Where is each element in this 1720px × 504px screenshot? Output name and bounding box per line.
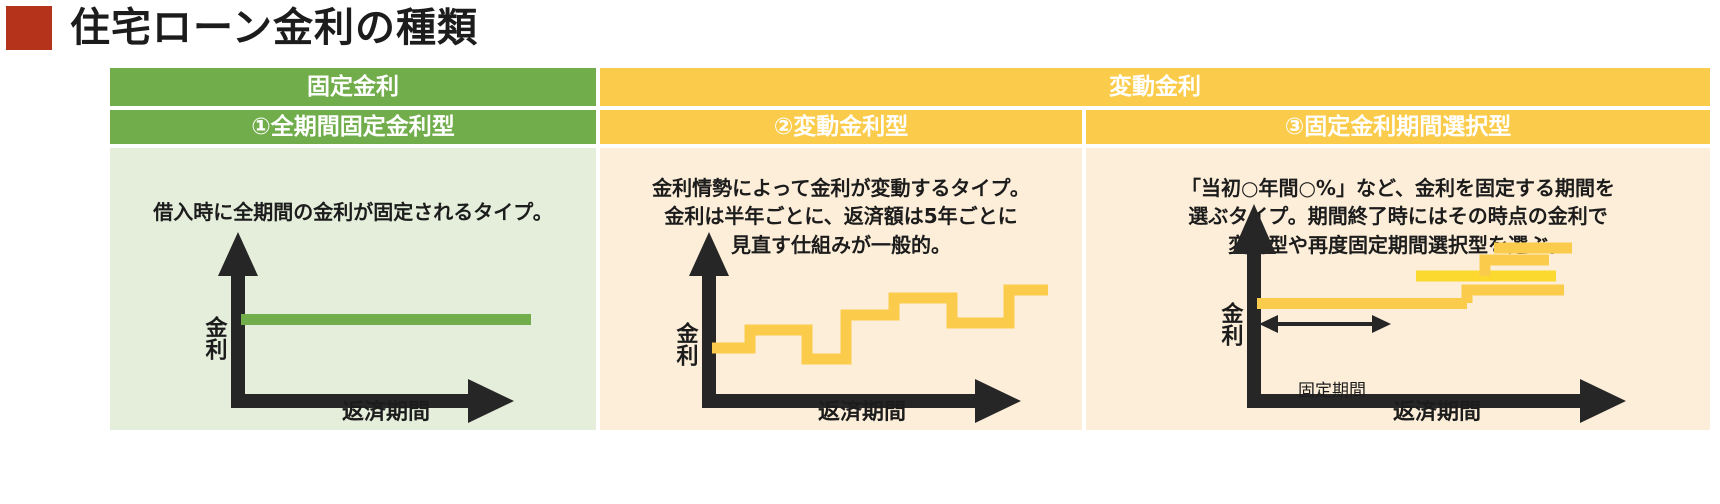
y-axis-label-2: 金利 (673, 321, 700, 367)
panel-description-1: 借入時に全期間の金利が固定されるタイプ。 (110, 198, 596, 226)
series-initial-fixed-segment (1257, 298, 1467, 309)
panel-fixed-period-select: 「当初○年間○%」など、金利を固定する期間を 選ぶタイプ。期間終了時にはその時点… (1086, 148, 1710, 430)
type-header-all-period-fixed: ①全期間固定金利型 (110, 110, 596, 144)
series-branch-mid (1467, 290, 1564, 303)
infographic-page: 住宅ローン金利の種類 固定金利 変動金利 ①全期間固定金利型 ②変動金利型 ③固… (0, 0, 1720, 504)
panel-body-row: 借入時に全期間の金利が固定されるタイプ。 (110, 148, 1710, 430)
panel-all-period-fixed: 借入時に全期間の金利が固定されるタイプ。 (110, 148, 596, 430)
title-square-marker (6, 6, 52, 50)
series-flat-fixed-line (241, 314, 531, 325)
type-header-row: ①全期間固定金利型 ②変動金利型 ③固定金利期間選択型 (110, 110, 1710, 144)
x-axis-label-2: 返済期間 (712, 394, 1012, 426)
x-axis-label-3: 返済期間 (1257, 394, 1617, 426)
group-header-fixed: 固定金利 (110, 68, 596, 106)
fixed-period-arrow (1259, 315, 1391, 333)
group-header-variable: 変動金利 (600, 68, 1710, 106)
series-step-variable-line (712, 290, 1048, 359)
page-title: 住宅ローン金利の種類 (70, 8, 478, 48)
panel-variable-rate: 金利情勢によって金利が変動するタイプ。 金利は半年ごとに、返済額は5年ごとに 見… (600, 148, 1082, 430)
page-title-row: 住宅ローン金利の種類 (0, 2, 478, 54)
y-axis-2 (689, 232, 729, 408)
rate-types-table: 固定金利 変動金利 ①全期間固定金利型 ②変動金利型 ③固定金利期間選択型 借入… (110, 68, 1710, 430)
y-axis-label-1: 金利 (202, 315, 229, 361)
type-header-variable-rate: ②変動金利型 (600, 110, 1082, 144)
group-header-row: 固定金利 変動金利 (110, 68, 1710, 106)
type-header-fixed-period-select: ③固定金利期間選択型 (1086, 110, 1710, 144)
x-axis-label-1: 返済期間 (241, 394, 531, 426)
y-axis-label-3: 金利 (1218, 301, 1245, 347)
